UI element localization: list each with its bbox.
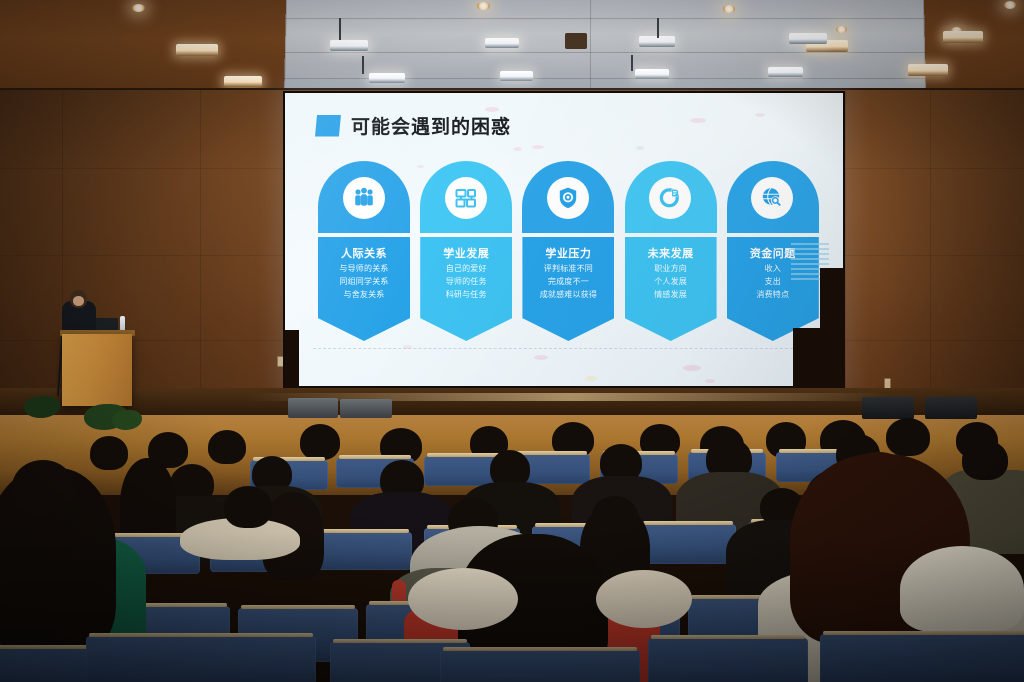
seat [648,638,808,682]
ceiling-light-fixture [635,69,669,79]
column-item: 导师的任务 [420,275,512,288]
fur-collar [408,568,518,630]
column-item: 完成度不一 [522,275,614,288]
ceiling-light-fixture [176,44,218,56]
column-item: 同组同学关系 [318,275,410,288]
hood [900,546,1024,632]
ceiling-downlight [477,2,490,10]
people-group-icon [343,177,385,219]
ceiling-hanger-rod [362,56,364,74]
globe-search-icon [751,177,793,219]
ceiling-downlight [1004,1,1016,9]
shield-target-icon [547,177,589,219]
ceiling-projector [565,33,587,49]
seat [440,650,640,682]
audience-head [962,440,1008,480]
column-heading: 学业压力 [522,245,614,261]
column-items: 自己的爱好 导师的任务 科研与任务 [420,262,512,301]
slide-column-1: 人际关系 与导师的关系 同组同学关系 与舍友关系 [318,161,409,341]
seat [86,636,316,682]
column-item: 职业方向 [625,262,717,275]
column-item: 自己的爱好 [420,262,512,275]
ceiling-downlight [836,26,847,33]
ceiling-light-fixture [224,76,262,87]
audience-head [838,452,918,522]
ceiling-light-fixture [500,71,533,81]
audience-head [300,424,340,460]
column-heading: 未来发展 [625,245,717,261]
auditorium-scene: 可能会遇到的困惑 人际关系 [0,0,1024,682]
audience-head [886,418,930,456]
ceiling-downlight [723,5,735,13]
seat [820,634,1024,682]
column-item: 消费特点 [727,288,819,301]
podium [62,334,132,406]
ceiling-light-fixture [768,67,803,77]
slide-title-row: 可能会遇到的困惑 [315,112,511,139]
ceiling-hanger-rod [657,18,659,38]
slide-banner-row: 人际关系 与导师的关系 同组同学关系 与舍友关系 [318,161,818,341]
presenter-face [73,296,84,306]
ceiling-hanger-rod [339,18,341,40]
wall-shadow-right [860,90,1024,420]
ceiling-downlight [132,4,145,12]
column-item: 与舍友关系 [318,288,410,301]
screen-occluder-corner [793,328,823,390]
column-item: 情感发展 [625,288,717,301]
fur-collar [596,570,692,628]
ceiling [0,0,1024,96]
seat [316,532,412,570]
wall-shadow-left [0,90,300,420]
column-heading: 学业发展 [420,245,512,261]
column-items: 评判标准不同 完成度不一 成就感难以获得 [522,262,614,301]
ceiling-light-fixture [943,31,983,43]
ceiling-light-fixture [369,73,405,83]
ceiling-hanger-rod [631,55,633,71]
audience-head [592,496,638,536]
pie-chart-icon [649,177,691,219]
column-item: 成就感难以获得 [522,288,614,301]
audience-head [12,460,74,514]
devices-screens-icon [445,177,487,219]
audience-head [224,486,272,528]
column-item: 评判标准不同 [522,262,614,275]
water-bottle [120,316,125,331]
ceiling-light-fixture [789,33,827,44]
slide-column-3: 学业压力 评判标准不同 完成度不一 成就感难以获得 [522,161,613,341]
audience-head [208,430,246,464]
seat [640,524,736,564]
title-accent-mark [315,115,341,137]
column-item: 科研与任务 [420,288,512,301]
slide-divider-dashed [313,348,818,349]
column-item: 个人发展 [625,275,717,288]
ceiling-light-fixture [330,40,368,51]
screen-occluder-right [820,268,845,390]
screen-occluder-left [285,330,299,388]
ceiling-light-fixture [485,38,519,48]
column-item: 与导师的关系 [318,262,410,275]
audience-area [0,408,1024,682]
slide-title: 可能会遇到的困惑 [351,112,511,139]
column-heading: 人际关系 [318,245,410,261]
slide-column-4: 未来发展 职业方向 个人发展 情感发展 [625,161,716,341]
column-items: 与导师的关系 同组同学关系 与舍友关系 [318,262,410,301]
slide-column-2: 学业发展 自己的爱好 导师的任务 科研与任务 [420,161,511,341]
projection-screen: 可能会遇到的困惑 人际关系 [285,93,843,386]
audience-head [90,436,128,470]
ceiling-light-fixture [908,64,948,76]
column-items: 职业方向 个人发展 情感发展 [625,262,717,301]
